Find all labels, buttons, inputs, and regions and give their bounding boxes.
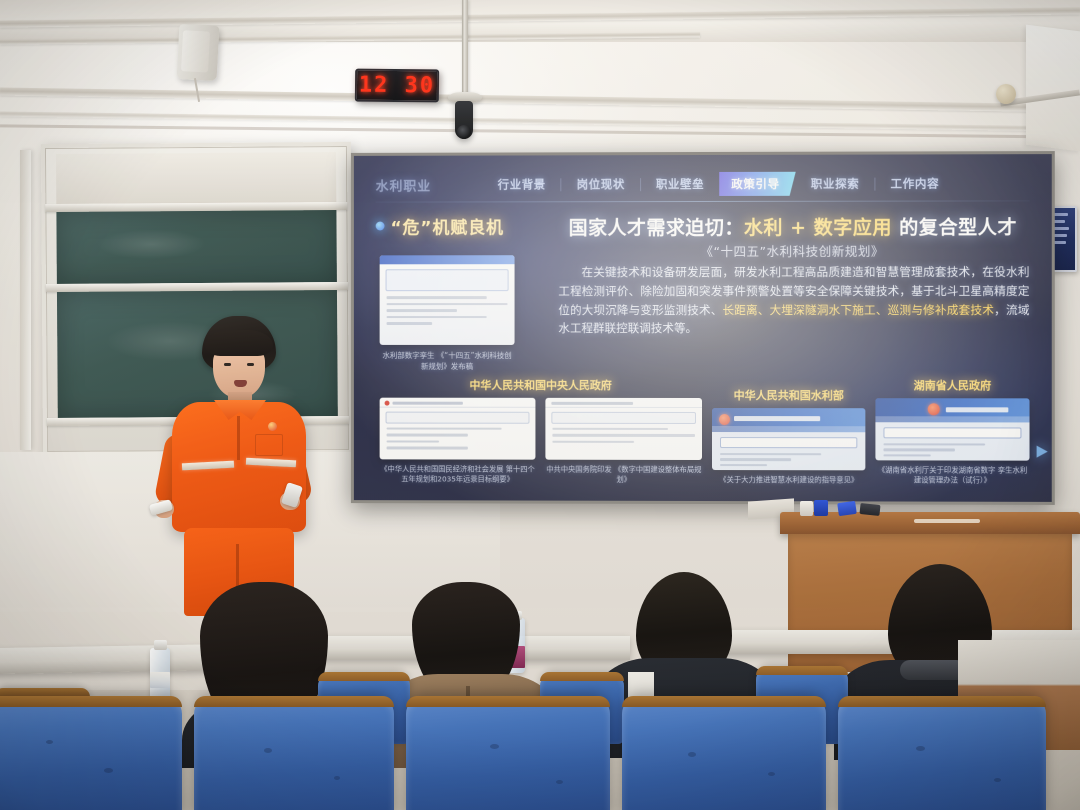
portal-text-line [720, 453, 821, 456]
doc-text-line [387, 303, 508, 306]
card-text-line [387, 434, 468, 437]
portal-search-box [720, 437, 857, 448]
presenter-fringe [205, 330, 273, 356]
source-card-gov-portal[interactable] [875, 398, 1029, 460]
card-hero-box [386, 411, 530, 423]
ceiling-mount-rod [462, 0, 468, 96]
card-caption-1-0: 《关于大力推进智慧水利建设的指导意见》 [712, 475, 865, 486]
doc-text-line [387, 296, 487, 299]
chair-wood-top [756, 666, 848, 675]
portal-text-line [884, 443, 986, 446]
body-text-highlight: 长距离、大埋深隧洞水下施工、巡测与修补成套技术 [723, 302, 995, 316]
card-text-line [552, 440, 633, 443]
projection-screen[interactable]: 水利职业 行业背景 岗位现状 职业壁垒 政策引导 职业探索 工作内容 “危”机赋… [351, 151, 1055, 505]
auditorium-chair-front-2 [194, 696, 394, 810]
card-header [545, 397, 702, 407]
source-card[interactable] [380, 397, 536, 459]
doc-title-box [386, 269, 509, 291]
lectern-item-blue-2 [837, 501, 857, 516]
site-emblem-icon [385, 400, 390, 405]
blackboard-upper-white-panel [56, 152, 336, 204]
tab-separator [874, 177, 875, 190]
portal-nav-bar [712, 426, 865, 432]
clock-time-display: 12 30 [359, 73, 435, 99]
portal-text-line [720, 458, 791, 461]
tab-separator [640, 178, 641, 191]
slide-tabs: 行业背景 岗位现状 职业壁垒 政策引导 职业探索 工作内容 [487, 171, 1052, 196]
ceiling-speaker [177, 24, 220, 81]
wall-panel-right [1026, 25, 1080, 152]
card-text-line [552, 434, 695, 437]
ceiling-camera [455, 101, 473, 139]
bullet-dot-icon [376, 222, 385, 231]
doc-text-line [387, 309, 457, 312]
classroom-scene: 12 30 水利职业 行业背 [0, 0, 1080, 810]
tab-separator [561, 178, 562, 191]
portal-text-line [720, 464, 767, 467]
presenter-eye-right [247, 363, 254, 366]
left-card-caption: 水利部数字孪生 《“十四五”水利科技创新规划》发布稿 [380, 351, 515, 373]
portal-nav-bar [875, 416, 1029, 422]
presenter [150, 316, 325, 616]
source-card-gov-portal[interactable] [712, 408, 865, 470]
slide-topbar-divider [376, 200, 1030, 202]
source-group-hunan-gov: 湖南省人民政府 [875, 377, 1029, 486]
slide-subtitle: 《“十四五”水利科技创新规划》 [552, 241, 1033, 261]
national-emblem-icon [719, 414, 730, 425]
auditorium-chair-front-1 [0, 696, 182, 810]
auditorium-chair-front-3 [406, 696, 610, 810]
card-text-line [552, 427, 668, 430]
card-caption-0-0: 《中华人民共和国国民经济和社会发展 第十四个五年规划和2035年远景目标纲要》 [380, 464, 536, 485]
doc-header-bar [380, 255, 515, 264]
card-hero-box [551, 411, 696, 423]
card-header [380, 397, 536, 407]
portal-content-lines [712, 453, 865, 467]
auditorium-chair-front-4 [622, 696, 826, 810]
slide-left-document-card[interactable]: 水利部数字孪生 《“十四五”水利科技创新规划》发布稿 [380, 255, 515, 372]
slide-tab-0[interactable]: 行业背景 [487, 172, 557, 196]
card-text-line [387, 440, 440, 443]
glow-arrow-icon [1037, 446, 1048, 458]
card-text-line [387, 427, 502, 430]
slide-tab-1[interactable]: 岗位现状 [566, 172, 636, 196]
chair-wood-top [540, 672, 624, 681]
source-group-central-gov: 中华人民共和国中央人民政府 [380, 376, 703, 485]
slide-tab-3-active[interactable]: 政策引导 [719, 172, 796, 196]
auditorium-chair-front-5 [838, 696, 1046, 810]
doc-text-line [387, 316, 487, 319]
slide-tab-bar: 水利职业 行业背景 岗位现状 职业壁垒 政策引导 职业探索 工作内容 [354, 168, 1052, 200]
card-caption-0-1: 中共中央国务院印发 《数字中国建设整体布局规划》 [545, 464, 702, 485]
portal-text-line [884, 454, 931, 457]
presenter-chest-pocket [255, 434, 283, 456]
led-wall-clock: 12 30 [355, 69, 439, 103]
slide-tab-4[interactable]: 职业探索 [800, 172, 871, 196]
portal-header [875, 398, 1029, 422]
site-title-bar [551, 401, 632, 404]
slide-title-part2: 的复合型人才 [892, 216, 1017, 238]
slide-title-part1: 国家人才需求迫切： [569, 217, 744, 239]
source-card[interactable] [545, 397, 702, 459]
chair-wood-top [318, 672, 410, 681]
portal-header [712, 408, 865, 432]
lectern-item-dark [859, 503, 880, 516]
national-emblem-icon [928, 403, 940, 415]
bottle-cap-left [154, 640, 167, 650]
lectern-item-blue [814, 500, 828, 516]
slide-kicker: “危”机赋良机 [376, 213, 504, 238]
group-label-2: 湖南省人民政府 [875, 377, 1029, 393]
portal-text-line [884, 448, 956, 451]
slide-title: 国家人才需求迫切：水利 + 数字应用 的复合型人才 [552, 212, 1033, 240]
group-label-0: 中华人民共和国中央人民政府 [380, 376, 703, 392]
doc-text-line [387, 322, 433, 324]
presenter-badge-icon [268, 422, 277, 431]
card-text-line [387, 447, 468, 450]
document-thumbnail [380, 255, 515, 345]
slide-body-paragraph: 在关键技术和设备研发层面，研发水利工程高品质建造和智慧管理成套技术，在役水利工程… [558, 263, 1029, 338]
group-label-1: 中华人民共和国水利部 [712, 387, 865, 403]
portal-content-lines [875, 443, 1029, 457]
card-caption-2-0: 《湖南省水利厅关于印发湖南省数字 孪生水利建设管理办法（试行）》 [875, 465, 1029, 486]
slide-source-groups: 中华人民共和国中央人民政府 [380, 376, 1030, 485]
portal-title-bar [734, 416, 820, 421]
blackboard-side-edge [20, 150, 31, 450]
presentation-slide: 水利职业 行业背景 岗位现状 职业壁垒 政策引导 职业探索 工作内容 “危”机赋… [354, 154, 1052, 502]
lectern-slot [914, 519, 980, 523]
slide-kicker-text: “危”机赋良机 [391, 213, 504, 238]
projector-knob [996, 84, 1016, 104]
source-group-water-ministry: 中华人民共和国水利部 [712, 387, 865, 486]
slide-logo: 水利职业 [376, 175, 487, 194]
slide-title-highlight: 水利 + 数字应用 [744, 217, 892, 239]
audience-scarf [900, 660, 966, 680]
lectern-item-white [800, 501, 813, 516]
slide-tab-5[interactable]: 工作内容 [879, 171, 950, 195]
presenter-placket [237, 416, 240, 460]
blackboard-panel-upper [56, 210, 336, 284]
presenter-eye-left [224, 363, 231, 366]
bottle-label-left [150, 672, 170, 688]
slide-tab-2[interactable]: 职业壁垒 [645, 172, 715, 196]
portal-title-bar [946, 407, 1008, 412]
presenter-mouth [234, 380, 247, 387]
portal-search-box [884, 427, 1022, 438]
site-title-bar [392, 401, 462, 404]
